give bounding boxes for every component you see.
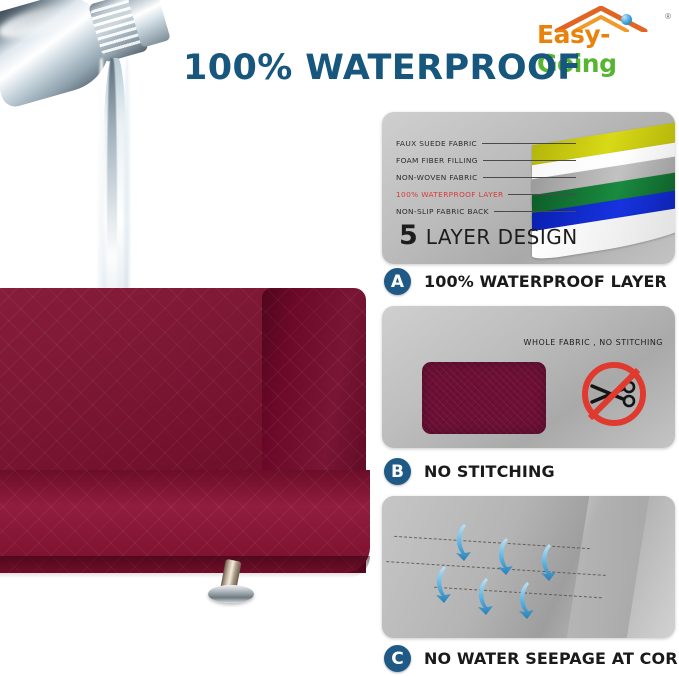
water-repel-arrow-icon: [474, 576, 496, 616]
layer-row: FOAM FIBER FILLING: [396, 152, 576, 169]
water-repel-arrow-icon: [537, 542, 559, 582]
sofa-shadow: [0, 556, 370, 578]
caption-text-a: 100% WATERPROOF LAYER: [424, 272, 667, 291]
panel-layer-design: FAUX SUEDE FABRIC FOAM FIBER FILLING NON…: [382, 112, 675, 264]
caption-text-c: NO WATER SEEPAGE AT CORNER: [424, 649, 679, 668]
panel-no-seepage: [382, 496, 675, 638]
water-repel-arrow-icon: [452, 522, 474, 562]
layer-label: NON-WOVEN FABRIC: [396, 173, 478, 182]
layer-count-number: 5: [399, 220, 418, 251]
layer-row-waterproof: 100% WATERPROOF LAYER: [396, 186, 576, 203]
water-repel-arrow-icon: [515, 580, 537, 620]
registered-mark: ®: [665, 12, 671, 21]
caption-row-c: C NO WATER SEEPAGE AT CORNER: [384, 645, 679, 672]
brand-word-easy: Easy-: [537, 20, 610, 49]
layer-count-block: 5 LAYER DESIGN: [399, 220, 578, 251]
leader-line: [482, 143, 576, 144]
no-scissors-icon: [582, 362, 646, 426]
caption-row-a: A 100% WATERPROOF LAYER: [384, 268, 667, 295]
badge-a: A: [384, 268, 411, 295]
burgundy-fabric-swatch: [422, 362, 546, 434]
badge-b: B: [384, 458, 411, 485]
water-repel-arrow-icon: [494, 536, 516, 576]
layer-row: FAUX SUEDE FABRIC: [396, 135, 576, 152]
caption-text-b: NO STITCHING: [424, 462, 555, 481]
layer-row: NON-SLIP FABRIC BACK: [396, 203, 576, 220]
layer-count-label: LAYER DESIGN: [426, 225, 578, 249]
badge-c: C: [384, 645, 411, 672]
leader-line: [494, 211, 576, 212]
layer-label: FOAM FIBER FILLING: [396, 156, 478, 165]
hero-product-image: [0, 0, 380, 677]
panel-no-stitching: WHOLE FABRIC , NO STITCHING: [382, 306, 675, 448]
layer-label: FAUX SUEDE FABRIC: [396, 139, 477, 148]
layer-label: NON-SLIP FABRIC BACK: [396, 207, 489, 216]
layer-label: 100% WATERPROOF LAYER: [396, 190, 503, 199]
water-repel-arrow-icon: [432, 564, 454, 604]
caption-row-b: B NO STITCHING: [384, 458, 555, 485]
page-title: 100% WATERPROOF: [183, 48, 543, 88]
leader-line: [508, 194, 576, 195]
brand-logo: Easy-Going ®: [537, 6, 673, 54]
water-bottle-icon: [0, 0, 188, 125]
layer-label-list: FAUX SUEDE FABRIC FOAM FIBER FILLING NON…: [396, 135, 576, 220]
leader-line: [483, 160, 576, 161]
furniture-leg-foot: [208, 585, 254, 603]
layer-row: NON-WOVEN FABRIC: [396, 169, 576, 186]
panel-b-caption: WHOLE FABRIC , NO STITCHING: [524, 338, 663, 347]
leader-line: [483, 177, 576, 178]
